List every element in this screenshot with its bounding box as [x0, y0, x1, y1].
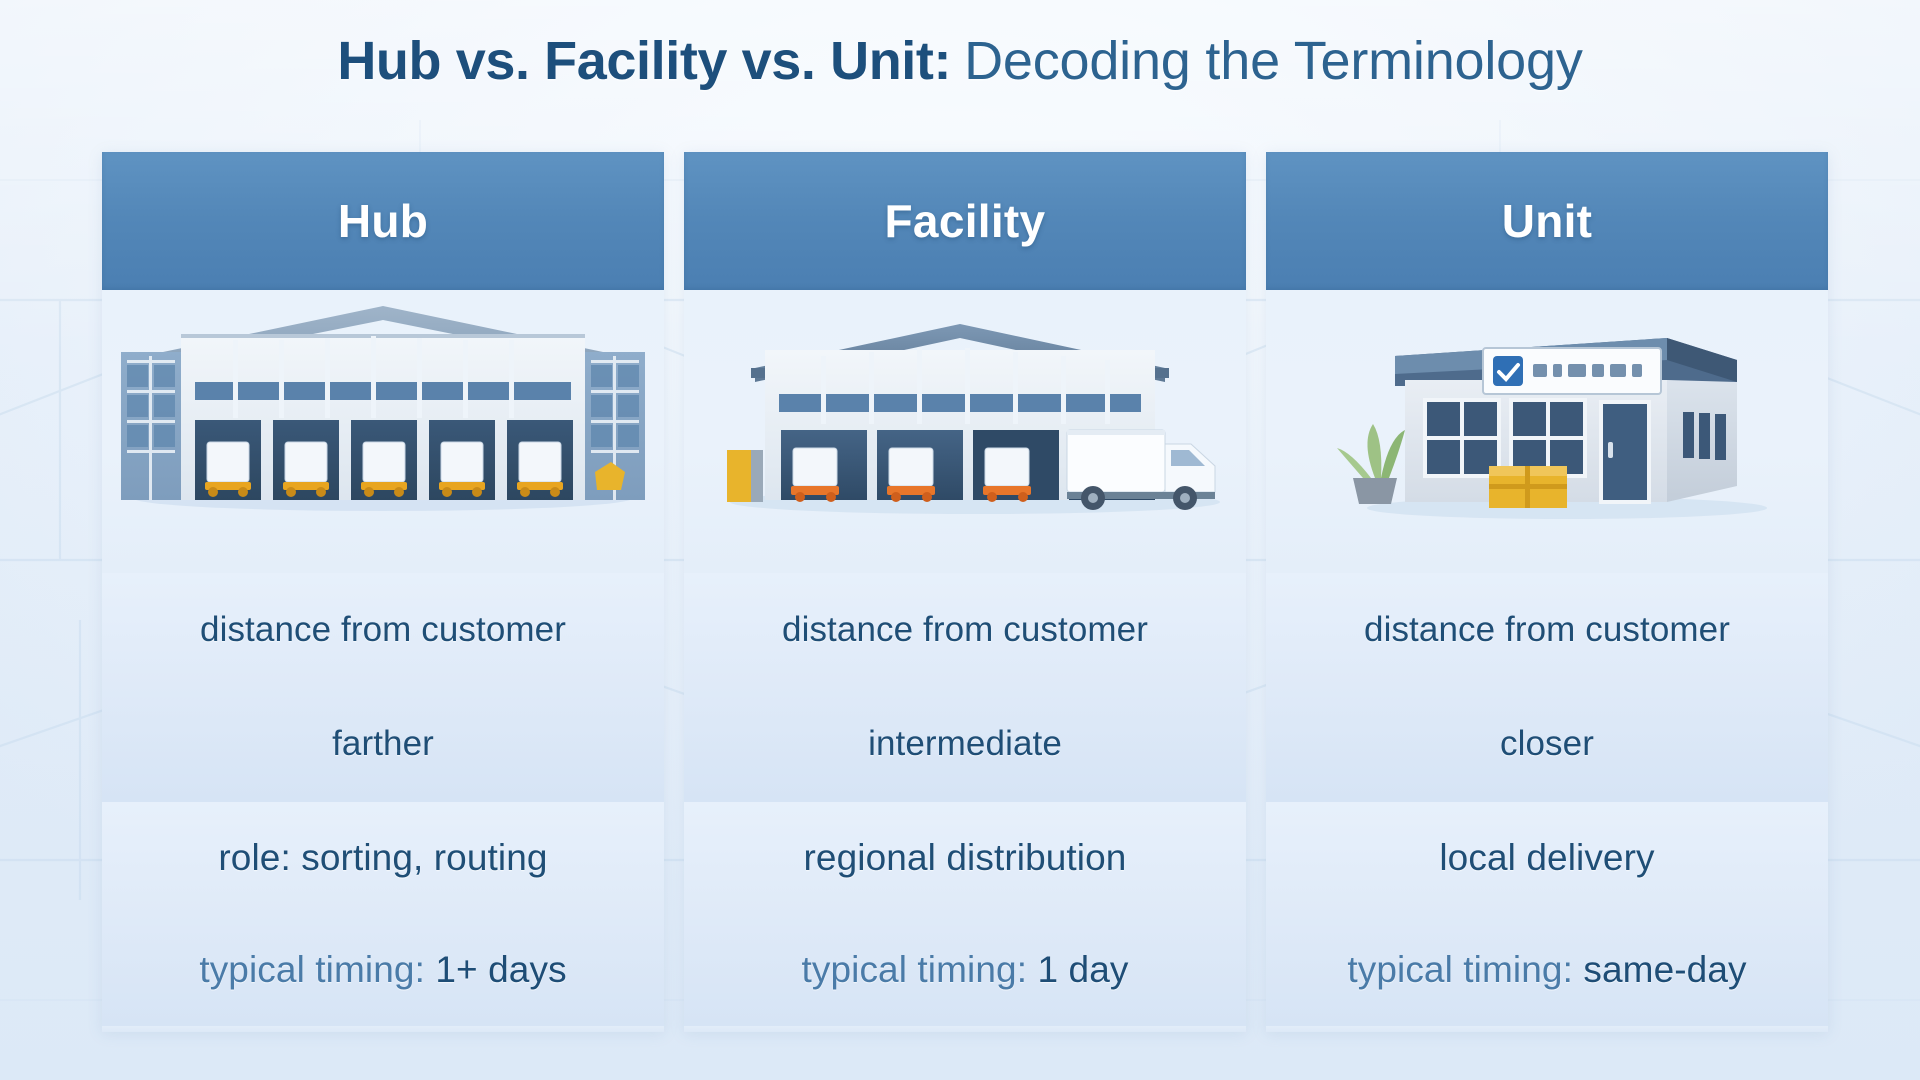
metric-label-row: distance from customer — [1266, 573, 1828, 686]
large-warehouse-illustration — [102, 290, 664, 573]
metric-value: intermediate — [868, 724, 1062, 764]
role-text: role: sorting, routing — [218, 837, 547, 879]
storefront-sign-icon — [1483, 348, 1661, 394]
column-header-unit: Unit — [1266, 152, 1828, 290]
role-row: regional distribution — [684, 802, 1246, 914]
metric-label-row: distance from customer — [102, 573, 664, 686]
role-row: local delivery — [1266, 802, 1828, 914]
page-title-light: Decoding the Terminology — [964, 30, 1583, 92]
delivery-truck-icon — [1067, 430, 1215, 510]
timing-value: 1+ days — [435, 949, 566, 990]
medium-warehouse-with-truck-icon — [684, 290, 1246, 573]
comparison-column-facility[interactable]: Facility — [684, 152, 1246, 1032]
metric-label-row: distance from customer — [684, 573, 1246, 686]
timing-text: typical timing: 1 day — [801, 949, 1128, 991]
column-footer-spacer — [102, 1026, 664, 1032]
metric-label: distance from customer — [782, 610, 1148, 650]
small-storefront-illustration — [1266, 290, 1828, 573]
role-row: role: sorting, routing — [102, 802, 664, 914]
metric-label: distance from customer — [200, 610, 566, 650]
comparison-grid: Hub — [102, 152, 1828, 1032]
cardboard-box-icon — [1489, 466, 1567, 508]
timing-label: typical timing: — [801, 949, 1027, 990]
column-header-label: Hub — [338, 194, 428, 248]
timing-text: typical timing: 1+ days — [199, 949, 566, 991]
column-header-facility: Facility — [684, 152, 1246, 290]
timing-label: typical timing: — [1347, 949, 1573, 990]
column-header-label: Unit — [1502, 194, 1593, 248]
metric-value-row: intermediate — [684, 686, 1246, 802]
timing-row: typical timing: same-day — [1266, 914, 1828, 1026]
small-storefront-icon — [1266, 290, 1828, 573]
metric-value: closer — [1500, 724, 1594, 764]
role-text: local delivery — [1439, 837, 1654, 879]
timing-text: typical timing: same-day — [1347, 949, 1746, 991]
medium-warehouse-illustration — [684, 290, 1246, 573]
metric-value-row: farther — [102, 686, 664, 802]
column-header-label: Facility — [885, 194, 1046, 248]
role-text: regional distribution — [804, 837, 1127, 879]
timing-row: typical timing: 1 day — [684, 914, 1246, 1026]
page-title-strong: Hub vs. Facility vs. Unit: — [337, 30, 951, 92]
timing-label: typical timing: — [199, 949, 425, 990]
column-footer-spacer — [684, 1026, 1246, 1032]
timing-value: same-day — [1583, 949, 1746, 990]
comparison-column-unit[interactable]: Unit — [1266, 152, 1828, 1032]
metric-value-row: closer — [1266, 686, 1828, 802]
timing-row: typical timing: 1+ days — [102, 914, 664, 1026]
large-warehouse-icon — [102, 290, 664, 573]
potted-plant-icon — [1337, 424, 1405, 504]
page-title: Hub vs. Facility vs. Unit: Decoding the … — [0, 18, 1920, 104]
column-header-hub: Hub — [102, 152, 664, 290]
comparison-column-hub[interactable]: Hub — [102, 152, 664, 1032]
column-footer-spacer — [1266, 1026, 1828, 1032]
metric-label: distance from customer — [1364, 610, 1730, 650]
timing-value: 1 day — [1038, 949, 1129, 990]
metric-value: farther — [332, 724, 434, 764]
